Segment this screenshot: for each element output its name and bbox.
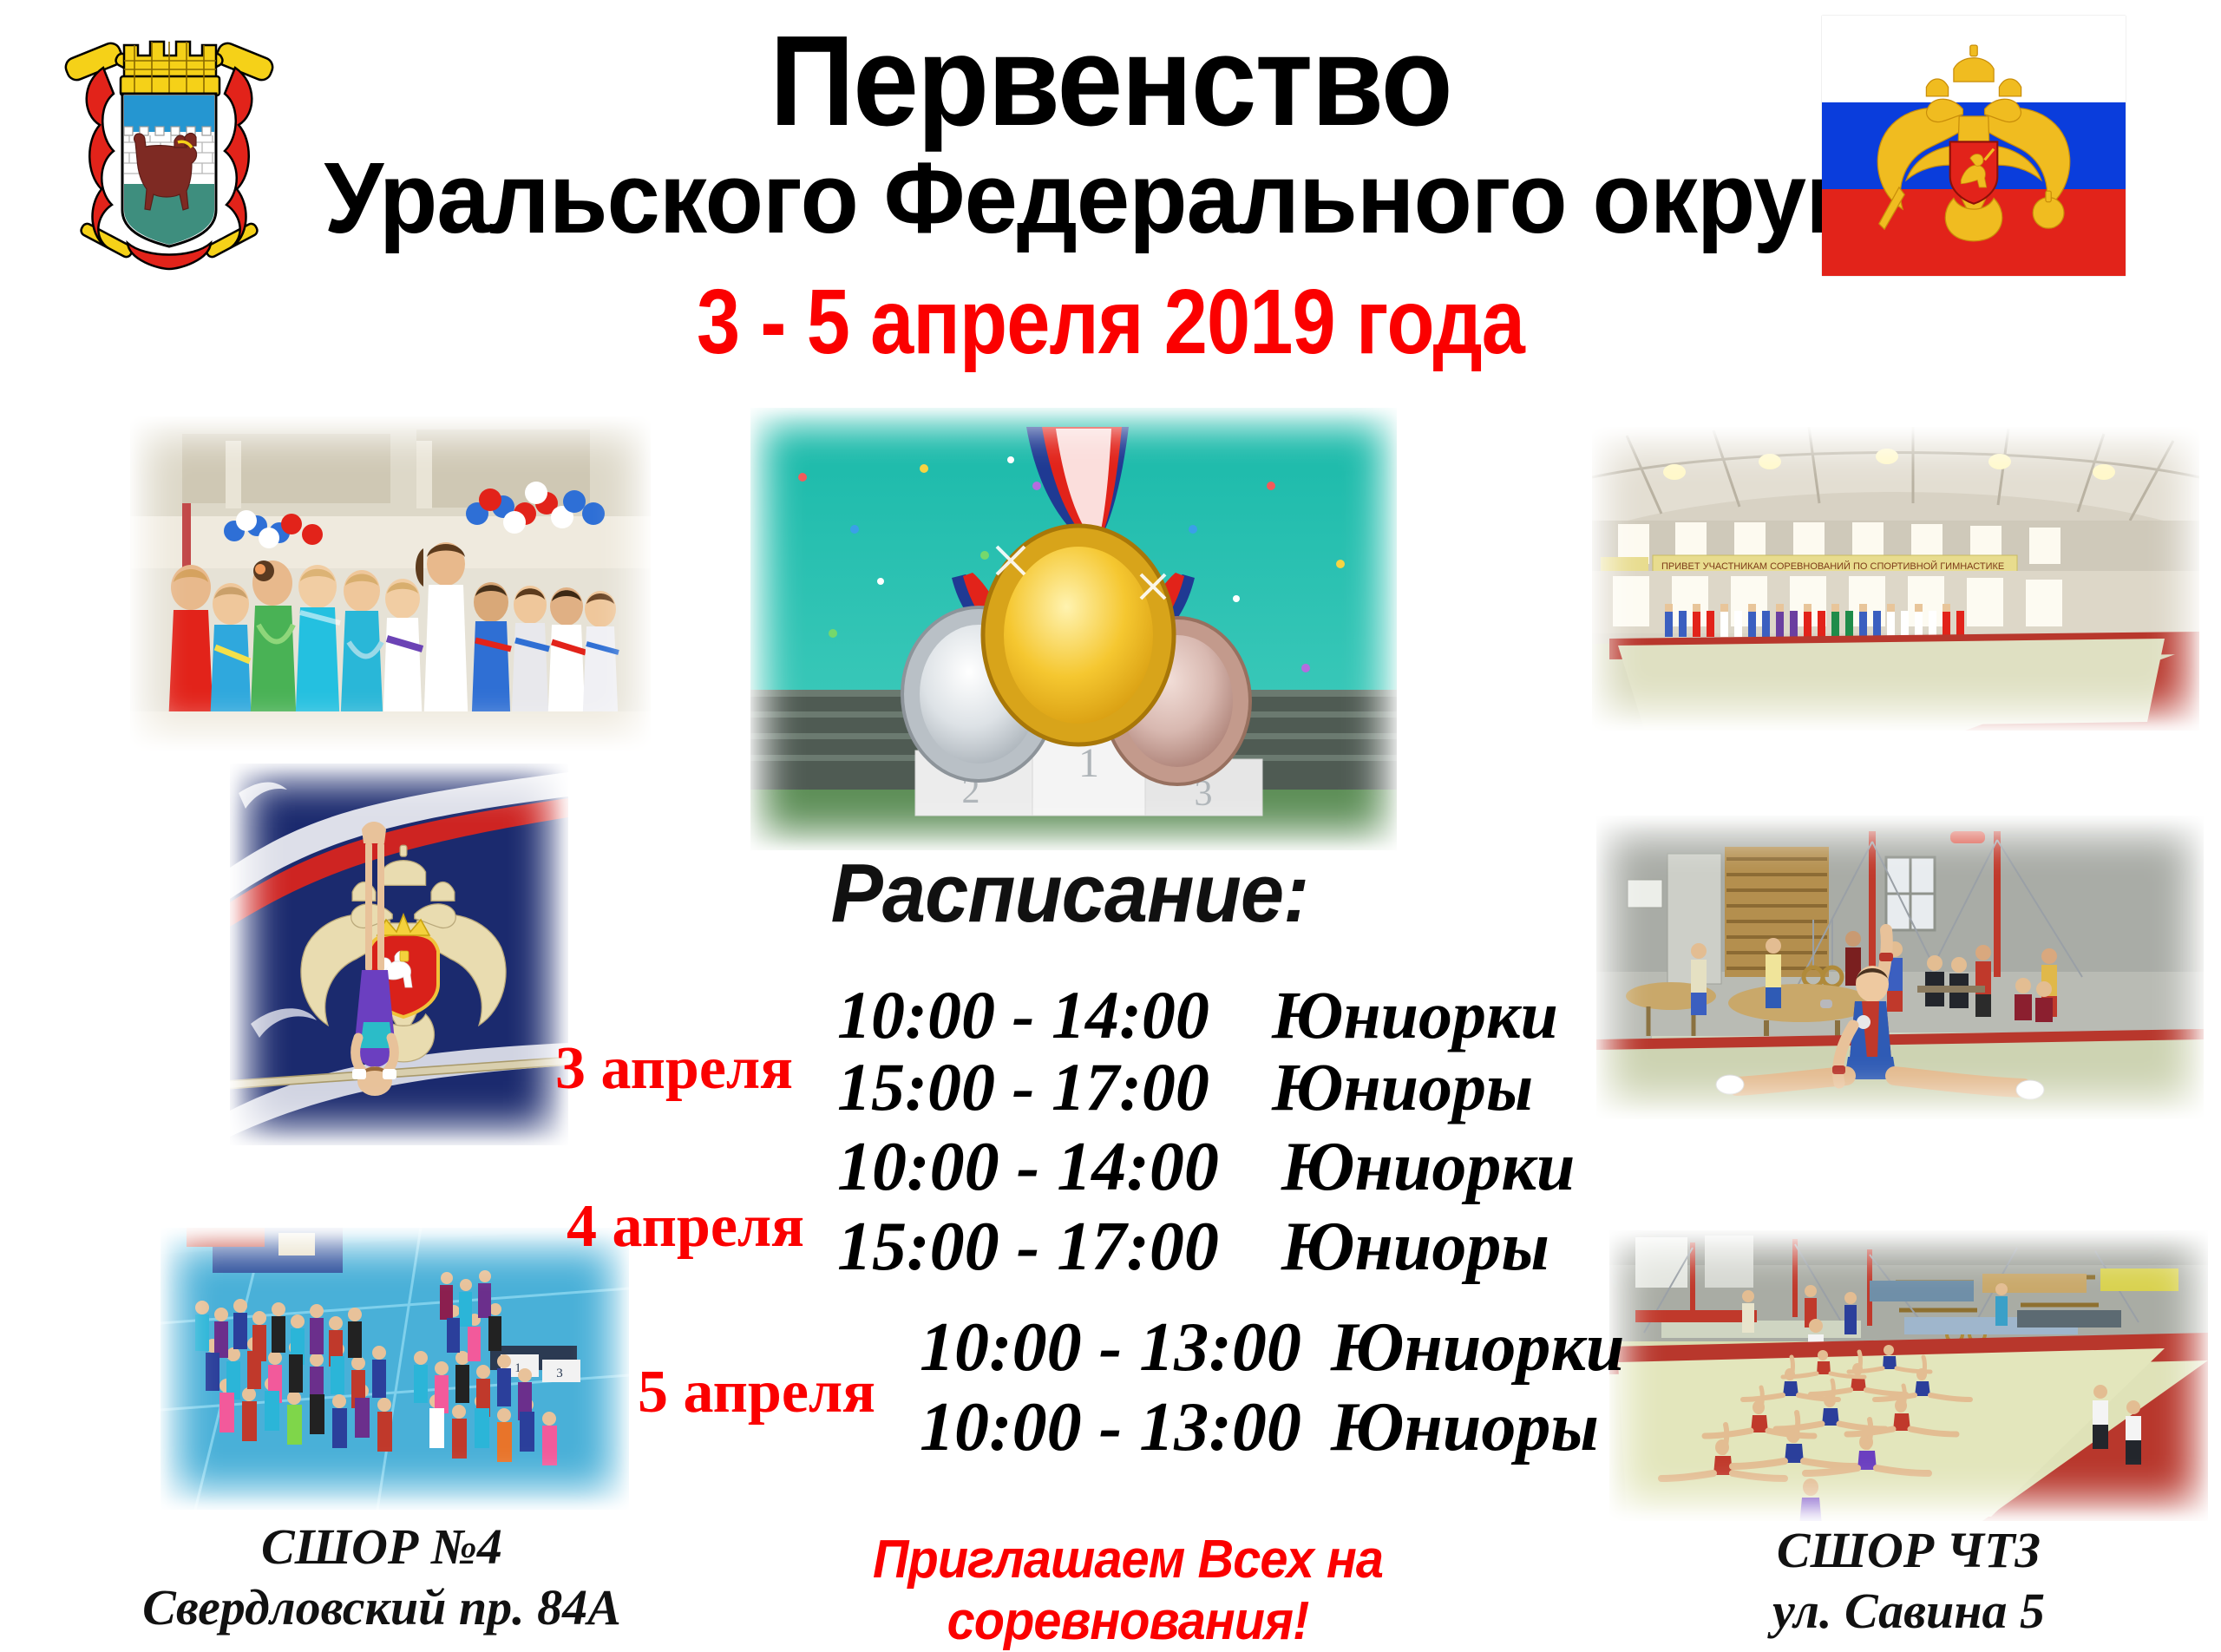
schedule-row-1-1: 10:00 - 14:00Юниорки xyxy=(837,976,1558,1054)
schedule-day-label-2: 4 апреля xyxy=(567,1192,804,1262)
schedule-row-3-2: 10:00 - 13:00Юниоры xyxy=(920,1388,1599,1467)
poster-date: 3 - 5 апреля 2019 года xyxy=(167,276,2054,368)
schedule-time: 10:00 - 14:00 xyxy=(837,1128,1219,1207)
schedule-row-2-1: 10:00 - 14:00Юниорки xyxy=(837,1128,1575,1207)
poster-canvas: Первенство Уральского Федерального округ… xyxy=(0,0,2221,1638)
schedule-row-1-2: 15:00 - 17:00Юниоры xyxy=(837,1048,1533,1126)
photo-gymnasts-lineup xyxy=(130,416,651,751)
schedule-category: Юниорки xyxy=(1281,1128,1575,1207)
schedule-row-3-1: 10:00 - 13:00Юниорки xyxy=(920,1308,1624,1387)
schedule-category: Юниоры xyxy=(1281,1208,1549,1287)
photo-competition-hall: ПРИВЕТ УЧАСТНИКАМ СОРЕВНОВАНИЙ ПО СПОРТИ… xyxy=(1592,427,2199,731)
schedule-day-label-1: 3 апреля xyxy=(555,1034,793,1104)
schedule-day-label-3: 5 апреля xyxy=(638,1358,875,1427)
venue-left: СШОР №4 Свердловский пр. 84А xyxy=(104,1517,659,1637)
russian-flag-eagle-icon xyxy=(1822,16,2126,276)
schedule-time: 15:00 - 17:00 xyxy=(837,1048,1209,1126)
venue-left-name: СШОР №4 xyxy=(104,1517,659,1577)
schedule-time: 15:00 - 17:00 xyxy=(837,1208,1219,1287)
photo-medals-podium: 1 2 3 xyxy=(750,408,1397,850)
schedule-category: Юниоры xyxy=(1272,1048,1533,1126)
schedule-category: Юниорки xyxy=(1331,1308,1624,1387)
schedule-row-2-2: 15:00 - 17:00Юниоры xyxy=(837,1208,1549,1287)
photo-gymnasts-formation xyxy=(1609,1230,2208,1521)
venue-right-address: ул. Савина 5 xyxy=(1631,1581,2186,1642)
photo-gymnast-split xyxy=(1596,816,2204,1119)
schedule-time: 10:00 - 13:00 xyxy=(920,1388,1301,1467)
schedule-time: 10:00 - 13:00 xyxy=(920,1308,1301,1387)
schedule-time: 10:00 - 14:00 xyxy=(837,976,1209,1054)
venue-right: СШОР ЧТЗ ул. Савина 5 xyxy=(1631,1520,2186,1641)
call-to-action-text: Приглашаем Всех на соревнования! xyxy=(700,1529,1556,1652)
venue-right-name: СШОР ЧТЗ xyxy=(1631,1520,2186,1581)
photo-gymnast-uneven-bars xyxy=(230,764,568,1145)
schedule-category: Юниорки xyxy=(1272,976,1558,1054)
venue-left-address: Свердловский пр. 84А xyxy=(104,1577,659,1638)
schedule-heading: Расписание: xyxy=(831,846,1309,941)
schedule-category: Юниоры xyxy=(1331,1388,1599,1467)
photo-group-blue-floor: 1 3 xyxy=(161,1228,629,1510)
